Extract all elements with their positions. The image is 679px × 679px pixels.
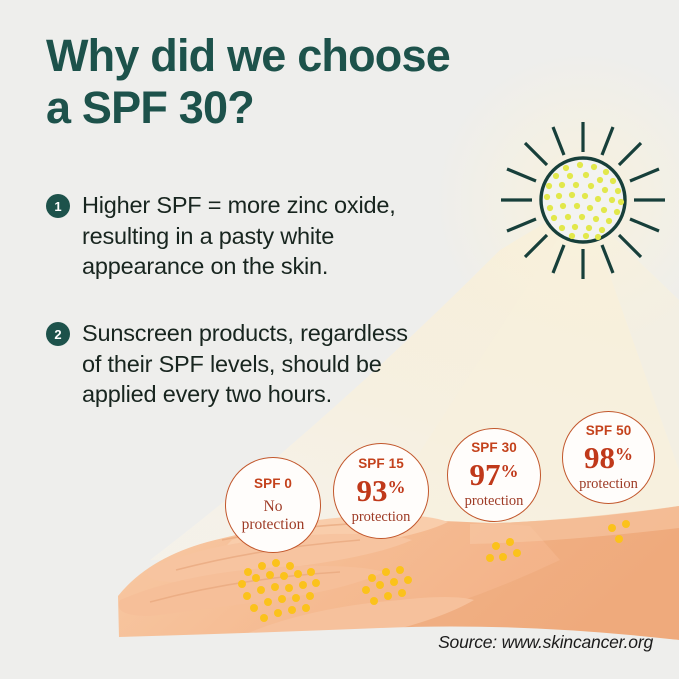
spf-percent-value: 97% — [470, 459, 519, 490]
list-item: 2 Sunscreen products, regardless of thei… — [46, 318, 546, 410]
spf-bubble-50: SPF 50 98% protection — [562, 411, 655, 504]
spf-number: 97 — [470, 457, 501, 492]
spf-number: 93 — [357, 473, 388, 508]
uv-cluster-spf30 — [486, 538, 521, 562]
sun-dots — [544, 162, 624, 240]
spf-sub: protection — [352, 509, 411, 526]
uv-cluster-spf0 — [238, 559, 320, 622]
uv-cluster-spf50 — [608, 520, 630, 543]
percent-sign: % — [615, 444, 633, 464]
spf-number: 98 — [584, 440, 615, 475]
spf-label: SPF 0 — [254, 476, 292, 491]
infographic-canvas: Why did we choose a SPF 30? 1 Higher SPF… — [0, 0, 679, 679]
list-number-badge: 1 — [46, 194, 70, 218]
spf-label: SPF 50 — [586, 423, 632, 438]
spf-bubble-15: SPF 15 93% protection — [333, 443, 429, 539]
spf-label: SPF 30 — [471, 440, 517, 455]
spf-label: SPF 15 — [358, 456, 404, 471]
list-number-badge: 2 — [46, 322, 70, 346]
spf-percent-value: 93% — [357, 475, 406, 506]
page-title: Why did we choose a SPF 30? — [46, 30, 606, 134]
spf-bubble-30: SPF 30 97% protection — [447, 428, 541, 522]
spf-percent-value: 98% — [584, 442, 633, 473]
list-item-text: Sunscreen products, regardless of their … — [82, 318, 408, 410]
percent-sign: % — [388, 477, 406, 497]
source-credit: Source: www.skincancer.org — [438, 632, 653, 653]
uv-cluster-spf15 — [362, 566, 412, 605]
list-item-text: Higher SPF = more zinc oxide, resulting … — [82, 190, 396, 282]
spf-bubble-0: SPF 0 No protection — [225, 457, 321, 553]
sun-icon — [501, 122, 665, 279]
spf-sub: No protection — [242, 498, 305, 534]
spf-sub: protection — [465, 493, 524, 510]
list-item: 1 Higher SPF = more zinc oxide, resultin… — [46, 190, 506, 282]
spf-sub: protection — [579, 476, 638, 493]
percent-sign: % — [501, 461, 519, 481]
